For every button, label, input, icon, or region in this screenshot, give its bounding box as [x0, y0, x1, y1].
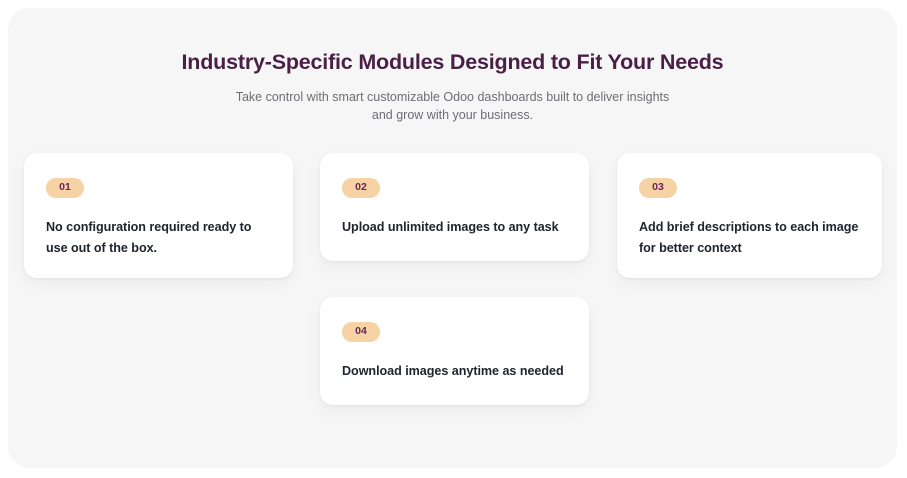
feature-card-text: Upload unlimited images to any task: [342, 198, 567, 238]
feature-card-grid: 01 No configuration required ready to us…: [8, 8, 897, 468]
feature-card-text: No configuration required ready to use o…: [46, 198, 271, 259]
status-badge: 03: [639, 178, 677, 198]
feature-section-panel: Industry-Specific Modules Designed to Fi…: [8, 8, 897, 468]
feature-card-02[interactable]: 02 Upload unlimited images to any task: [320, 153, 589, 261]
feature-card-text: Download images anytime as needed: [342, 342, 567, 382]
status-badge: 01: [46, 178, 84, 198]
feature-card-03[interactable]: 03 Add brief descriptions to each image …: [617, 153, 882, 278]
status-badge: 02: [342, 178, 380, 198]
feature-card-01[interactable]: 01 No configuration required ready to us…: [24, 153, 293, 278]
feature-card-text: Add brief descriptions to each image for…: [639, 198, 860, 259]
status-badge: 04: [342, 322, 380, 342]
feature-card-04[interactable]: 04 Download images anytime as needed: [320, 297, 589, 405]
